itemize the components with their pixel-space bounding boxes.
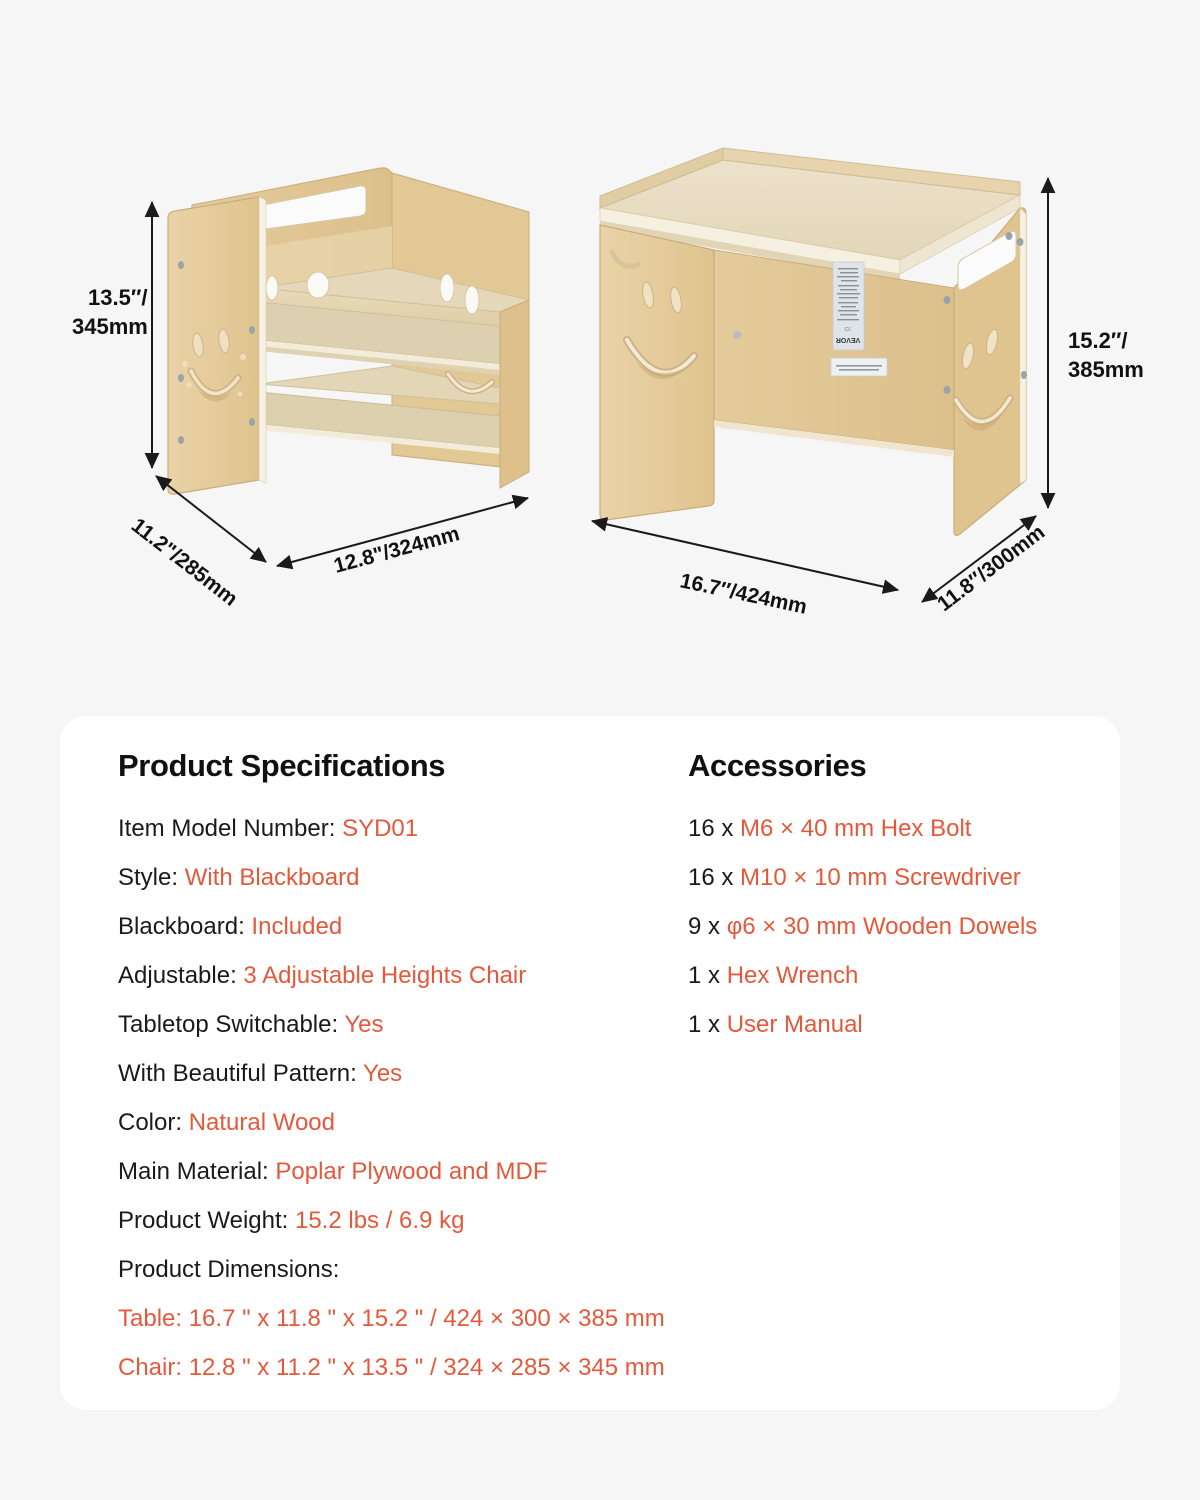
spec-row-product-dimensions: Product Dimensions: (118, 1245, 688, 1294)
chair-depth-label: 11.2"/285mm (127, 514, 242, 611)
accessory-row-screwdriver: 16 x M10 × 10 mm Screwdriver (688, 853, 1108, 902)
spec-label: Product Dimensions: (118, 1256, 339, 1283)
spec-value: Natural Wood (189, 1109, 335, 1136)
chair-illustration (168, 168, 529, 494)
spec-value: With Blackboard (185, 864, 360, 891)
spec-label: Blackboard: (118, 913, 245, 940)
spec-value: SYD01 (342, 815, 418, 842)
spec-label: Style: (118, 864, 178, 891)
accessory-item: M10 × 10 mm Screwdriver (740, 864, 1021, 891)
product-info-card: Product Specifications Item Model Number… (60, 716, 1120, 1410)
table-height-dimension: 15.2″/ 385mm (1048, 178, 1144, 508)
spec-label: With Beautiful Pattern: (118, 1060, 357, 1087)
specifications-list: Item Model Number: SYD01 Style: With Bla… (118, 804, 688, 1392)
spec-dimension-table: Table: 16.7 " x 11.8 " x 15.2 " / 424 × … (118, 1294, 688, 1343)
spec-row-color: Color: Natural Wood (118, 1098, 688, 1147)
spec-row-main-material: Main Material: Poplar Plywood and MDF (118, 1147, 688, 1196)
table-depth-dimension: 11.8″/300mm (922, 516, 1049, 616)
spec-value: Poplar Plywood and MDF (275, 1158, 547, 1185)
table-depth-label: 11.8″/300mm (933, 521, 1049, 616)
chair-height-dimension: 13.5″/ 345mm (72, 202, 152, 468)
accessory-qty: 9 x (688, 913, 727, 940)
accessory-item: M6 × 40 mm Hex Bolt (740, 815, 971, 842)
specifications-heading: Product Specifications (118, 748, 688, 784)
chair-depth-dimension: 11.2"/285mm (127, 476, 266, 611)
spec-label: Adjustable: (118, 962, 237, 989)
accessory-row-hex-wrench: 1 x Hex Wrench (688, 951, 1108, 1000)
accessory-row-hex-bolt: 16 x M6 × 40 mm Hex Bolt (688, 804, 1108, 853)
table-height-label-line1: 15.2″/ (1068, 328, 1127, 353)
spec-label: Main Material: (118, 1158, 269, 1185)
spec-label: Tabletop Switchable: (118, 1011, 338, 1038)
spec-dimension-chair: Chair: 12.8 " x 11.2 " x 13.5 " / 324 × … (118, 1343, 688, 1392)
accessories-column: Accessories 16 x M6 × 40 mm Hex Bolt 16 … (688, 748, 1108, 1392)
spec-label: Product Weight: (118, 1207, 288, 1234)
spec-row-beautiful-pattern: With Beautiful Pattern: Yes (118, 1049, 688, 1098)
table-height-label-line2: 385mm (1068, 357, 1144, 382)
accessory-qty: 1 x (688, 1011, 727, 1038)
accessory-qty: 16 x (688, 815, 740, 842)
specifications-column: Product Specifications Item Model Number… (118, 748, 688, 1392)
spec-row-blackboard: Blackboard: Included (118, 902, 688, 951)
spec-label: Item Model Number: (118, 815, 335, 842)
accessories-list: 16 x M6 × 40 mm Hex Bolt 16 x M10 × 10 m… (688, 804, 1108, 1049)
spec-row-adjustable: Adjustable: 3 Adjustable Heights Chair (118, 951, 688, 1000)
svg-text:VEVOR: VEVOR (836, 336, 861, 343)
accessory-item: Hex Wrench (727, 962, 859, 989)
product-illustration-area: 13.5″/ 345mm 11.2"/285mm 12.8"/324mm (0, 0, 1200, 700)
accessory-qty: 16 x (688, 864, 740, 891)
spec-row-product-weight: Product Weight: 15.2 lbs / 6.9 kg (118, 1196, 688, 1245)
spec-value: Yes (344, 1011, 383, 1038)
spec-row-style: Style: With Blackboard (118, 853, 688, 902)
spec-value: 15.2 lbs / 6.9 kg (295, 1207, 464, 1234)
spec-row-item-model-number: Item Model Number: SYD01 (118, 804, 688, 853)
spec-row-tabletop-switchable: Tabletop Switchable: Yes (118, 1000, 688, 1049)
accessory-qty: 1 x (688, 962, 727, 989)
accessory-row-user-manual: 1 x User Manual (688, 1000, 1108, 1049)
table-illustration: Cℂ VEVOR (600, 148, 1027, 535)
accessories-heading: Accessories (688, 748, 1108, 784)
spec-label: Color: (118, 1109, 182, 1136)
table-width-label: 16.7″/424mm (678, 569, 809, 618)
spec-value: Yes (363, 1060, 402, 1087)
accessory-item: φ6 × 30 mm Wooden Dowels (727, 913, 1038, 940)
accessory-row-wooden-dowels: 9 x φ6 × 30 mm Wooden Dowels (688, 902, 1108, 951)
chair-height-label-line1: 13.5″/ (88, 285, 147, 310)
spec-value: Included (251, 913, 342, 940)
accessory-item: User Manual (727, 1011, 863, 1038)
table-width-dimension: 16.7″/424mm (592, 521, 898, 619)
svg-text:Cℂ: Cℂ (844, 327, 852, 333)
chair-width-dimension: 12.8"/324mm (277, 498, 528, 578)
chair-width-label: 12.8"/324mm (331, 522, 462, 578)
chair-height-label-line2: 345mm (72, 314, 148, 339)
spec-value: 3 Adjustable Heights Chair (243, 962, 526, 989)
